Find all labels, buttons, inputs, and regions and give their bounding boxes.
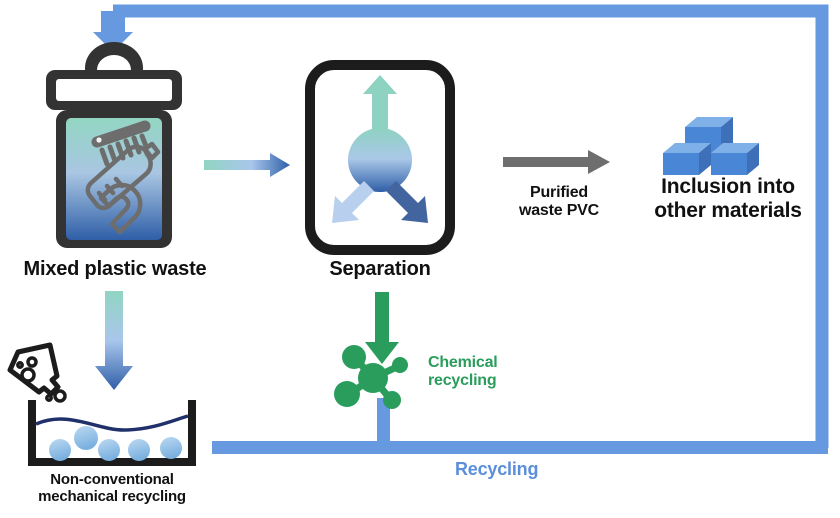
inclusion-label: Inclusion into other materials xyxy=(630,175,826,222)
diagram-canvas: Mixed plastic waste xyxy=(0,0,840,518)
inclusion-label-line2: other materials xyxy=(630,199,826,223)
separation-label: Separation xyxy=(300,258,460,280)
purified-waste-line2: waste PVC xyxy=(500,202,618,220)
pouring-flask-icon xyxy=(2,340,80,410)
mixed-waste-label: Mixed plastic waste xyxy=(4,258,226,280)
molecule-icon xyxy=(325,340,423,412)
chemical-recycling-label: Chemical recycling xyxy=(428,354,548,390)
separation-sphere-icon xyxy=(305,60,455,255)
arrow-down-gradient xyxy=(90,288,138,396)
mechanical-recycling-label: Non-conventional mechanical recycling xyxy=(4,472,220,506)
stacked-blocks-icon xyxy=(655,105,795,180)
arrow-right-gray xyxy=(500,148,615,176)
purified-waste-line1: Purified xyxy=(500,184,618,202)
inclusion-label-line1: Inclusion into xyxy=(630,175,826,199)
trash-bin-icon xyxy=(28,40,200,252)
beaker-with-spheres-icon xyxy=(24,402,200,470)
purified-waste-label: Purified waste PVC xyxy=(500,184,618,220)
mechanical-recycling-line1: Non-conventional xyxy=(4,472,220,489)
arrow-right-gradient xyxy=(200,150,296,180)
recycling-loop-label: Recycling xyxy=(455,459,615,479)
chemical-recycling-line2: recycling xyxy=(428,372,548,390)
mechanical-recycling-line2: mechanical recycling xyxy=(4,489,220,506)
chemical-recycling-line1: Chemical xyxy=(428,354,548,372)
